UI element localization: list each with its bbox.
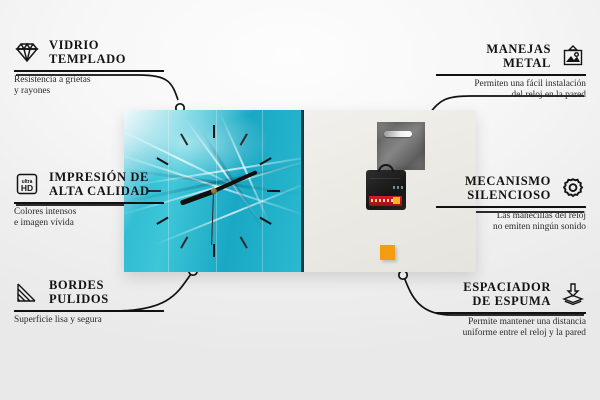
product-image: [124, 110, 476, 272]
callout-desc: Permite mantener una distancia uniforme …: [436, 317, 586, 340]
mechanism-seam: [370, 178, 400, 179]
ultra-hd-icon: ultra HD: [14, 172, 40, 196]
callout-desc: Colores intensos e imagen vívida: [14, 207, 164, 230]
hanger-slot: [384, 131, 412, 137]
callout-title: MECANISMO SILENCIOSO: [436, 174, 551, 202]
gear-icon: [560, 176, 586, 200]
quartz-mechanism: [366, 170, 406, 210]
callout-desc: Resistencia a grietas y rayones: [14, 75, 164, 98]
metal-hanger-plate: [377, 122, 425, 170]
callout-silent-mechanism: MECANISMO SILENCIOSO Las manecillas del …: [436, 174, 586, 233]
callout-rule: [436, 206, 586, 208]
callout-polished-edges: BORDES PULIDOS Superficie lisa y segura: [14, 278, 164, 326]
second-hand: [211, 191, 214, 245]
polished-edge-icon: [14, 280, 40, 304]
callout-title: VIDRIO TEMPLADO: [49, 38, 126, 66]
callout-title: MANEJAS METAL: [436, 42, 551, 70]
battery-label: [371, 199, 393, 202]
battery-terminal: [393, 197, 400, 204]
callout-title: BORDES PULIDOS: [49, 278, 109, 306]
callout-rule: [14, 70, 164, 72]
hour-hand: [179, 189, 215, 206]
callout-rule: [436, 312, 586, 314]
hand-cap: [211, 188, 217, 194]
foam-spacer-icon: [560, 282, 586, 306]
callout-rule: [436, 74, 586, 76]
callout-hd-print: ultra HD IMPRESIÓN DE ALTA CALIDAD Color…: [14, 170, 164, 229]
callout-desc: Superficie lisa y segura: [14, 315, 164, 326]
minute-hand: [213, 170, 258, 193]
callout-foam-spacer: ESPACIADOR DE ESPUMA Permite mantener un…: [436, 280, 586, 339]
callout-title: IMPRESIÓN DE ALTA CALIDAD: [49, 170, 150, 198]
battery: [369, 196, 402, 206]
picture-hanging-icon: [560, 44, 586, 68]
callout-title: ESPACIADOR DE ESPUMA: [436, 280, 551, 308]
anchor-dot-foam-spacer: [399, 271, 407, 279]
callout-desc: Las manecillas del reloj no emiten ningú…: [436, 211, 586, 234]
callout-rule: [14, 310, 164, 312]
foam-spacer: [380, 245, 395, 260]
svg-text:HD: HD: [21, 183, 33, 193]
diamond-icon: [14, 40, 40, 64]
callout-tempered-glass: VIDRIO TEMPLADO Resistencia a grietas y …: [14, 38, 164, 97]
callout-desc: Permiten una fácil instalación del reloj…: [436, 79, 586, 102]
callout-metal-handles: MANEJAS METAL Permiten una fácil instala…: [436, 42, 586, 101]
callout-rule: [14, 202, 164, 204]
mechanism-contacts: [393, 186, 403, 189]
